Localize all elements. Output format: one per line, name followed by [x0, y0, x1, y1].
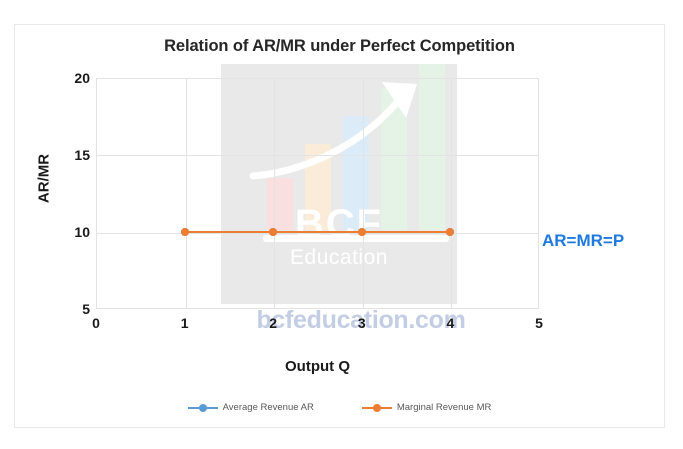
y-tick-10: 10	[50, 224, 90, 240]
x-tick-0: 0	[76, 315, 116, 331]
x-axis-title: Output Q	[96, 358, 539, 375]
legend-swatch-ar-icon	[188, 403, 218, 413]
gridline-y-15	[97, 155, 538, 156]
chart-legend: Average Revenue AR Marginal Revenue MR	[15, 402, 664, 413]
x-tick-4: 4	[430, 315, 470, 331]
legend-label-mr: Marginal Revenue MR	[397, 402, 492, 413]
legend-item-marginal-revenue-mr[interactable]: Marginal Revenue MR	[362, 402, 492, 413]
annotation-ar-equals-mr-equals-p: AR=MR=P	[542, 231, 624, 251]
x-tick-5: 5	[519, 315, 559, 331]
x-tick-1: 1	[165, 315, 205, 331]
gridline-x-3	[363, 79, 364, 308]
y-tick-15: 15	[50, 147, 90, 163]
legend-swatch-mr-icon	[362, 403, 392, 413]
gridline-x-4	[451, 79, 452, 308]
legend-label-ar: Average Revenue AR	[223, 402, 314, 413]
legend-item-average-revenue-ar[interactable]: Average Revenue AR	[188, 402, 314, 413]
chart-container: Relation of AR/MR under Perfect Competit…	[14, 24, 665, 428]
x-axis-ticks: 0 1 2 3 4 5	[96, 315, 539, 335]
x-tick-2: 2	[253, 315, 293, 331]
chart-title: Relation of AR/MR under Perfect Competit…	[15, 37, 664, 56]
x-tick-3: 3	[342, 315, 382, 331]
gridline-x-2	[274, 79, 275, 308]
y-axis-ticks: 20 15 10 5	[46, 78, 90, 309]
gridline-x-1	[186, 79, 187, 308]
y-axis-title: AR/MR	[36, 129, 53, 229]
y-tick-20: 20	[50, 70, 90, 86]
plot-area	[96, 78, 539, 309]
gridline-y-10	[97, 233, 538, 234]
